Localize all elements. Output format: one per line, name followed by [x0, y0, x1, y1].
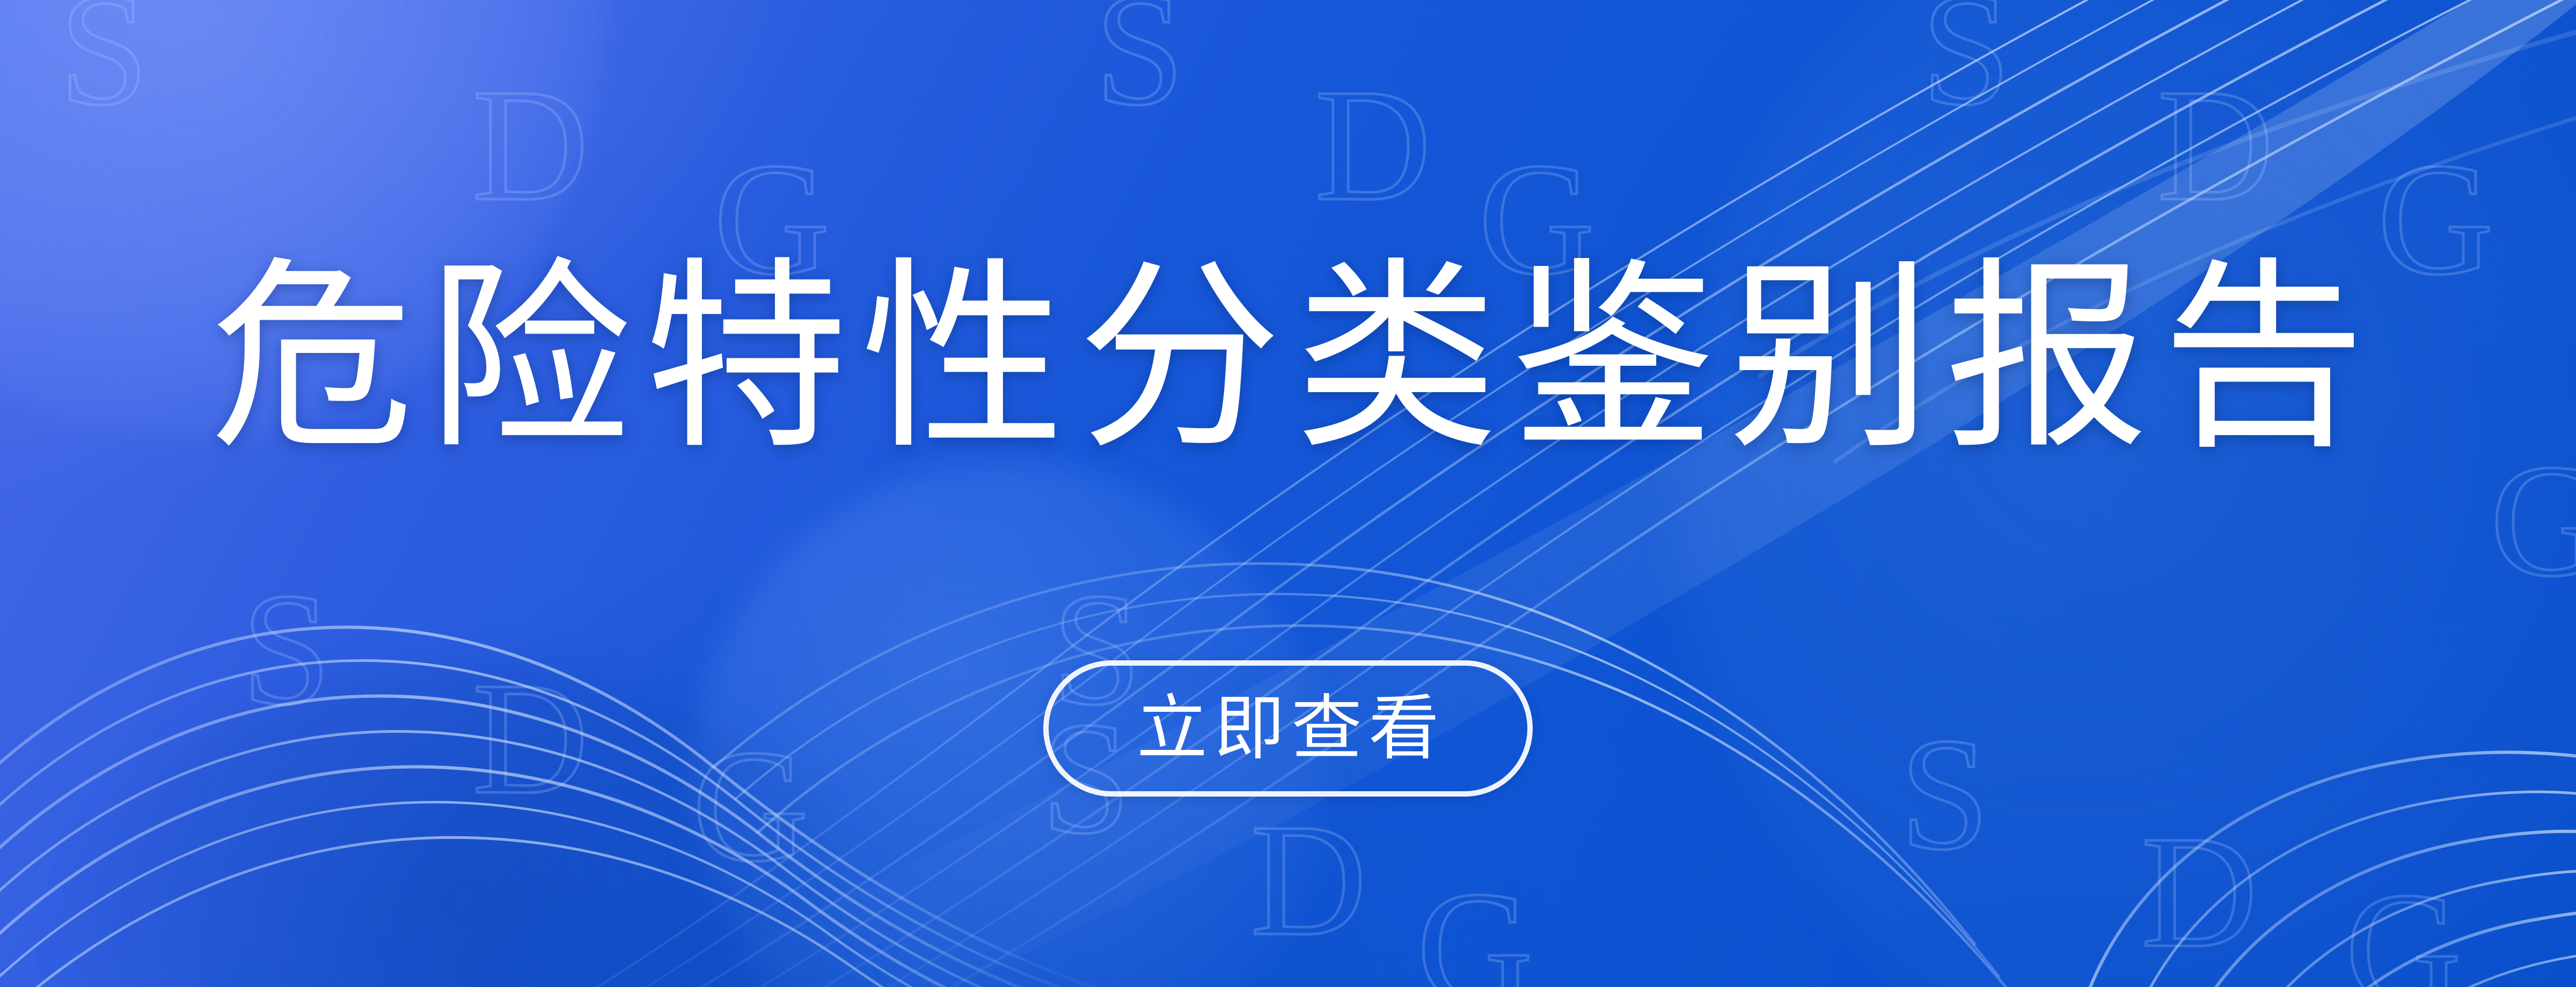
banner-content: 危险特性分类鉴别报告 立即查看 [0, 0, 2576, 987]
page-title: 危险特性分类鉴别报告 [197, 256, 2379, 460]
hazard-report-banner: SDGSDGSDGSDGSDGSDGSG [0, 0, 2576, 987]
view-now-button[interactable]: 立即查看 [1043, 660, 1533, 797]
view-now-button-label: 立即查看 [1130, 693, 1446, 764]
